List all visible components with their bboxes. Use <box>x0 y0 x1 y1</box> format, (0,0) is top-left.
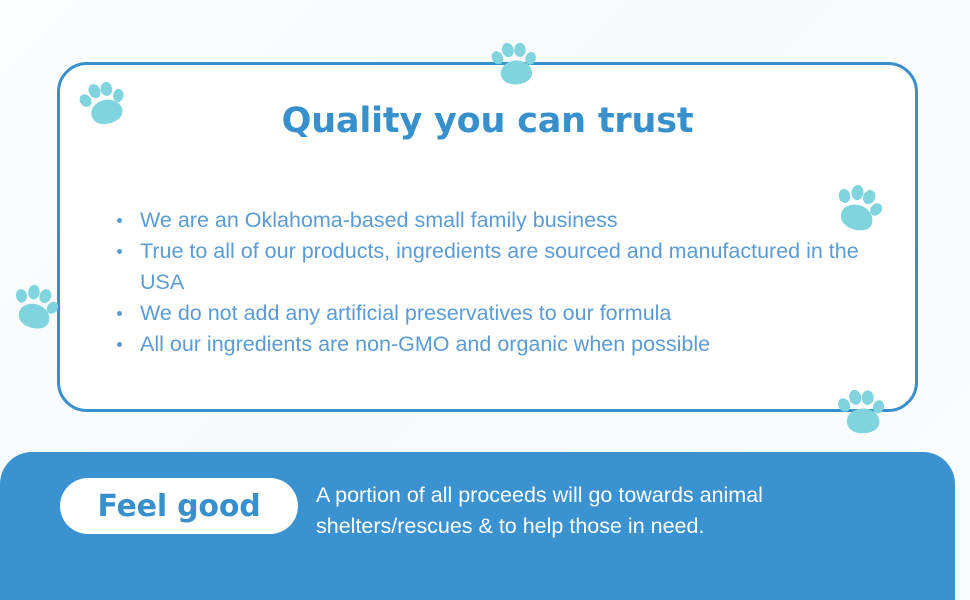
list-item-label: We are an Oklahoma-based small family bu… <box>140 208 618 232</box>
bullet-dot-icon <box>117 311 122 316</box>
list-item: True to all of our products, ingredients… <box>113 236 893 298</box>
list-item-label: All our ingredients are non-GMO and orga… <box>140 332 710 356</box>
page-title: Quality you can trust <box>60 101 915 141</box>
bullet-dot-icon <box>117 218 122 223</box>
banner-description-line-2: shelters/rescues & to help those in need… <box>316 511 926 542</box>
paw-print-left-edge <box>3 276 65 338</box>
list-item-label: We do not add any artificial preservativ… <box>140 301 671 325</box>
paw-print-bottom-right <box>830 382 889 441</box>
quality-trust-card: Quality you can trust We are an Oklahoma… <box>57 62 918 412</box>
paw-print-top-center <box>484 35 543 94</box>
list-item: We do not add any artificial preservativ… <box>113 298 893 329</box>
benefit-list: We are an Oklahoma-based small family bu… <box>113 205 893 360</box>
bullet-dot-icon <box>117 342 122 347</box>
feel-good-pill-label: Feel good <box>97 489 260 524</box>
banner-description: A portion of all proceeds will go toward… <box>316 480 926 542</box>
bullet-dot-icon <box>117 249 122 254</box>
feel-good-pill: Feel good <box>60 478 298 534</box>
infographic-canvas: Quality you can trust We are an Oklahoma… <box>0 0 970 600</box>
list-item: We are an Oklahoma-based small family bu… <box>113 205 893 236</box>
list-item: All our ingredients are non-GMO and orga… <box>113 329 893 360</box>
banner-description-line-1: A portion of all proceeds will go toward… <box>316 480 926 511</box>
feel-good-banner: Feel good A portion of all proceeds will… <box>0 452 955 600</box>
list-item-label: True to all of our products, ingredients… <box>140 239 859 294</box>
